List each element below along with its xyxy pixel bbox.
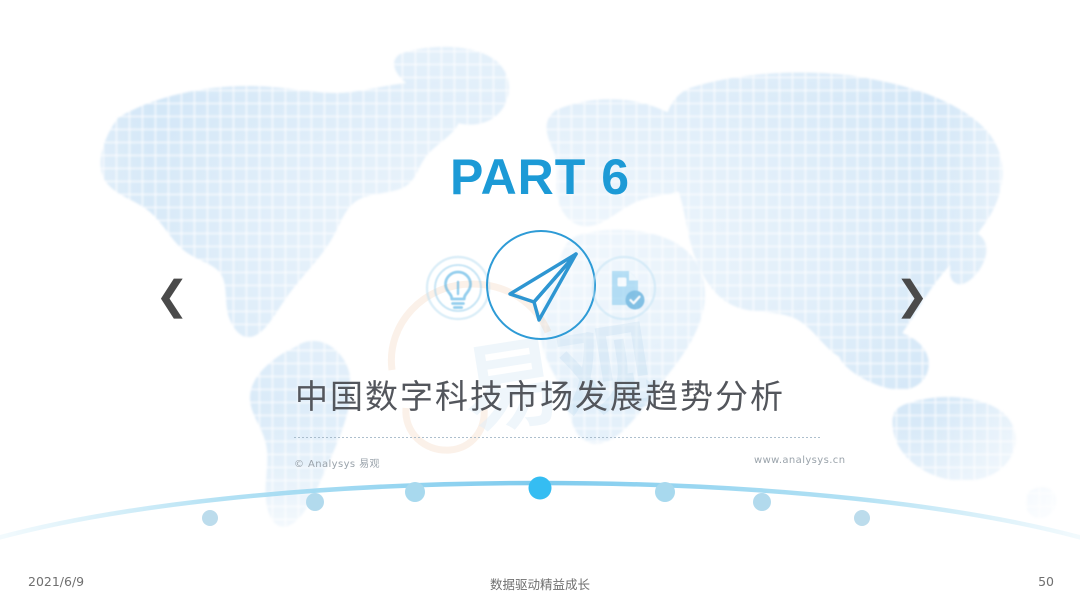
slide-footer: 2021/6/9 数据驱动精益成长 50 [0,560,1080,608]
page-title: 中国数字科技市场发展趋势分析 [0,370,1080,418]
icon-cluster [0,228,1080,353]
paper-plane-icon [484,228,598,342]
progress-dot-1[interactable] [306,493,324,511]
progress-dot-2[interactable] [405,482,425,502]
progress-dot-6[interactable] [854,510,870,526]
arc-line [0,483,1080,546]
landmass-greenland [394,47,509,125]
footer-slogan: 数据驱动精益成长 [0,574,1080,593]
progress-arc [0,452,1080,562]
progress-arc-svg [0,452,1080,562]
progress-dot-5[interactable] [753,493,771,511]
progress-dots [202,477,870,527]
copyright-credit: © Analysys 易观 [294,455,380,470]
progress-dot-0[interactable] [202,510,218,526]
dotted-divider [294,437,822,438]
paper-plane-icon-svg [484,228,598,342]
website-url: www.analysys.cn [754,455,845,466]
footer-page-number: 50 [1038,574,1054,589]
landmass-south-america [250,341,351,527]
landmass-new-zealand [1026,487,1057,518]
document-check-icon [588,252,660,324]
progress-dot-3-active[interactable] [529,477,552,500]
progress-dot-4[interactable] [655,482,675,502]
document-check-icon-svg [588,252,660,324]
part-label: PART 6 [0,148,1080,206]
presentation-slide: 易观 ❮ ❯ PART 6 [0,0,1080,608]
